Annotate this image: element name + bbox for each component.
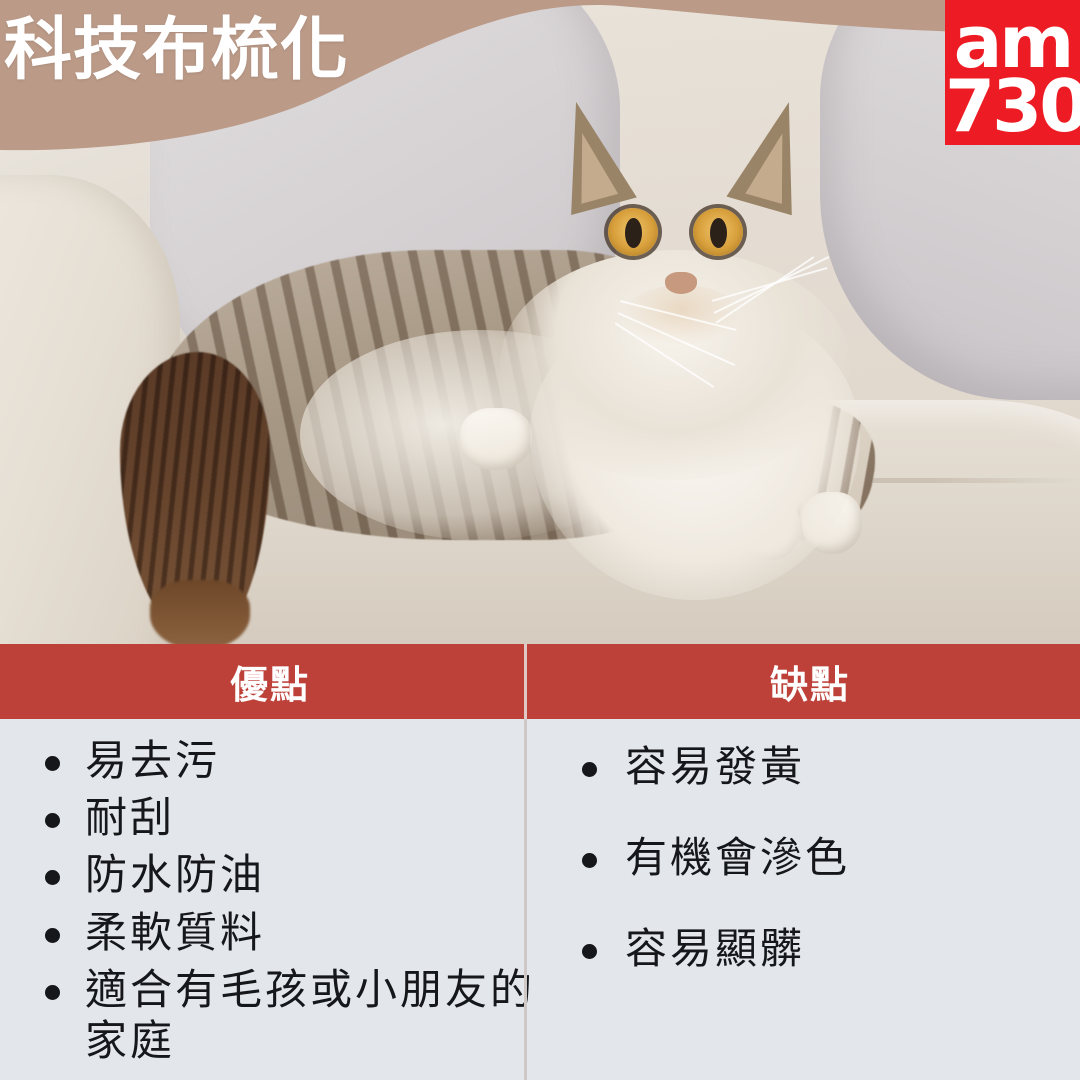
- list-item: 有機會滲色: [540, 832, 1080, 883]
- table-body: 易去污 耐刮 防水防油 柔軟質料 適合有毛孩或小朋友的家庭 容易發黃 有機會滲色…: [0, 719, 1080, 1080]
- pros-cons-table: 優點 缺點 易去污 耐刮 防水防油 柔軟質料 適合有毛孩或小朋友的家庭 容易發黃…: [0, 644, 1080, 1080]
- column-cons: 容易發黃 有機會滲色 容易顯髒: [540, 719, 1080, 1080]
- column-pros: 易去污 耐刮 防水防油 柔軟質料 適合有毛孩或小朋友的家庭: [0, 719, 540, 1080]
- logo-text-730: 730: [945, 70, 1080, 142]
- cat-tail-tip: [150, 580, 250, 646]
- infographic-poster: 科技布梳化 am 730 優點 缺點 易去污 耐刮 防水防油 柔軟質料 適合有毛…: [0, 0, 1080, 1080]
- cat-pupil-right: [710, 218, 727, 248]
- hero-photo: [0, 0, 1080, 646]
- list-item: 柔軟質料: [0, 907, 540, 958]
- cons-list: 容易發黃 有機會滲色 容易顯髒: [540, 719, 1080, 975]
- list-item: 耐刮: [0, 792, 540, 843]
- header-column-divider: [524, 644, 527, 719]
- am730-logo[interactable]: am 730: [945, 0, 1080, 145]
- column-header-pros: 優點: [0, 644, 540, 719]
- list-item: 防水防油: [0, 849, 540, 900]
- pros-list: 易去污 耐刮 防水防油 柔軟質料 適合有毛孩或小朋友的家庭: [0, 719, 540, 1066]
- body-column-divider: [524, 719, 527, 1080]
- list-item: 適合有毛孩或小朋友的家庭: [0, 964, 540, 1066]
- list-item: 易去污: [0, 735, 540, 786]
- table-header-row: 優點 缺點: [0, 644, 1080, 719]
- page-title: 科技布梳化: [4, 16, 349, 84]
- list-item: 容易顯髒: [540, 923, 1080, 974]
- column-header-cons: 缺點: [540, 644, 1080, 719]
- cat-nose: [665, 272, 697, 294]
- list-item: 容易發黃: [540, 741, 1080, 792]
- cat-illustration: [0, 0, 1080, 646]
- cat-pupil-left: [625, 218, 642, 248]
